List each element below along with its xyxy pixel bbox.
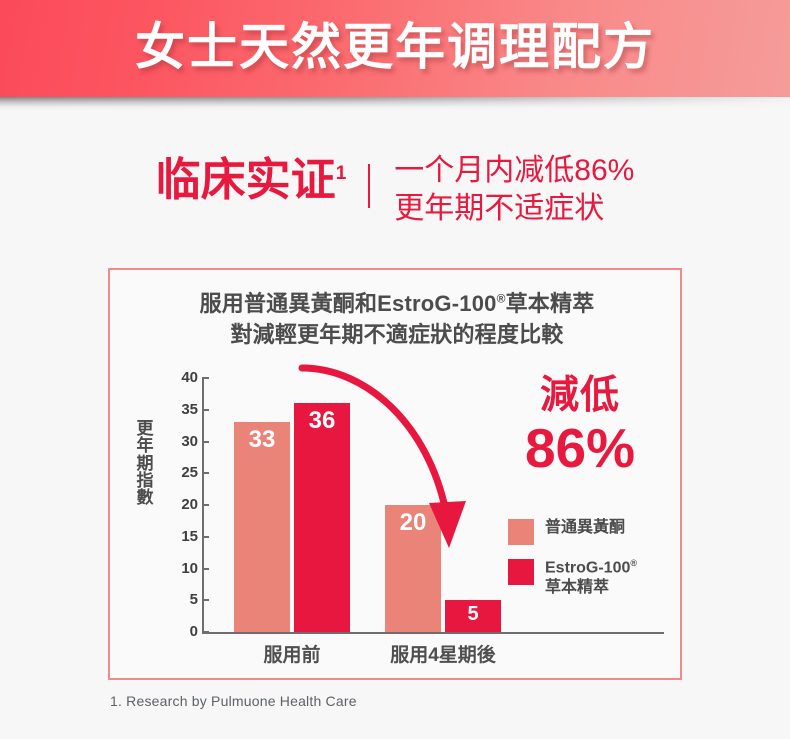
legend-label-line1: EstroG-100® <box>545 558 637 578</box>
chart-title-line1-pre: 服用普通異黃酮和EstroG-100 <box>200 291 497 316</box>
reduction-callout: 減低 86% <box>490 376 670 476</box>
legend-swatch-isoflavone <box>508 519 534 545</box>
registered-mark: ® <box>630 558 637 568</box>
y-tick-mark <box>202 504 209 506</box>
legend-label-line2: 草本精萃 <box>545 578 637 598</box>
headline-footnote-marker: 1 <box>336 163 347 184</box>
legend-swatch-estrog <box>508 559 534 585</box>
banner-title: 女士天然更年调理配方 <box>135 22 655 72</box>
x-axis-label: 服用4星期後 <box>353 640 533 667</box>
y-tick-label: 25 <box>154 466 198 480</box>
headline-sub: 一个月内减低86% 更年期不适症状 <box>394 150 634 229</box>
y-tick-label: 40 <box>154 371 198 385</box>
registered-mark: ® <box>497 292 506 306</box>
y-tick-label: 30 <box>154 435 198 449</box>
y-axis-ticks: 0510152025303540 <box>154 368 198 632</box>
y-tick-mark <box>202 599 209 601</box>
legend-label-isoflavone: 普通異黃酮 <box>545 518 625 538</box>
legend-label-estrog: EstroG-100® 草本精萃 <box>545 558 637 598</box>
y-tick-mark <box>202 536 209 538</box>
callout-label: 減低 <box>490 376 670 415</box>
callout-percentage: 86% <box>490 421 670 476</box>
y-tick-mark <box>202 472 209 474</box>
chart-title-line2: 對減輕更年期不適症狀的程度比較 <box>110 319 684 350</box>
chart-title-line1-post: 草本精萃 <box>506 291 595 316</box>
legend-label-brand: EstroG-100 <box>545 559 630 576</box>
legend-label-line1: 普通異黃酮 <box>545 518 625 538</box>
y-tick-mark <box>202 441 209 443</box>
headline-sub-line1: 一个月内减低86% <box>394 152 634 190</box>
y-tick-label: 0 <box>154 625 198 639</box>
chart-legend: 普通異黃酮 EstroG-100® 草本精萃 <box>508 518 684 611</box>
chart-title-line1: 服用普通異黃酮和EstroG-100®草本精萃 <box>110 288 684 319</box>
y-tick-label: 10 <box>154 562 198 576</box>
y-tick-label: 15 <box>154 530 198 544</box>
headline-sub-line2: 更年期不适症状 <box>394 190 634 228</box>
y-tick-label: 20 <box>154 498 198 512</box>
y-tick-label: 5 <box>154 593 198 607</box>
headline-divider <box>368 164 370 208</box>
banner-drop-shadow-fade <box>0 97 790 111</box>
y-tick-mark <box>202 377 209 379</box>
bar: 33 <box>234 422 290 632</box>
y-tick-mark <box>202 568 209 570</box>
legend-item: EstroG-100® 草本精萃 <box>508 558 684 598</box>
header-banner: 女士天然更年调理配方 <box>0 0 790 97</box>
footnote: 1. Research by Pulmuone Health Care <box>110 693 357 709</box>
headline-main: 临床实证1 <box>156 156 347 203</box>
decrease-arrow-icon <box>296 362 496 592</box>
headline-row: 临床实证1 一个月内减低86% 更年期不适症状 <box>0 150 790 229</box>
chart-card: 服用普通異黃酮和EstroG-100®草本精萃 對減輕更年期不適症狀的程度比較 … <box>108 268 682 680</box>
plot-area: 更年期指數 0510152025303540 3336205 服用前服用4星期後… <box>110 368 684 658</box>
headline-main-text: 临床实证 <box>156 154 336 205</box>
y-tick-mark <box>202 409 209 411</box>
bar-value-label: 5 <box>445 604 501 624</box>
x-axis-line <box>202 632 664 634</box>
bar: 5 <box>445 600 501 632</box>
y-tick-mark <box>202 631 209 633</box>
bar-value-label: 33 <box>234 428 290 452</box>
y-axis-label: 更年期指數 <box>134 420 156 507</box>
y-tick-label: 35 <box>154 403 198 417</box>
legend-item: 普通異黃酮 <box>508 518 684 545</box>
chart-title: 服用普通異黃酮和EstroG-100®草本精萃 對減輕更年期不適症狀的程度比較 <box>110 288 684 350</box>
